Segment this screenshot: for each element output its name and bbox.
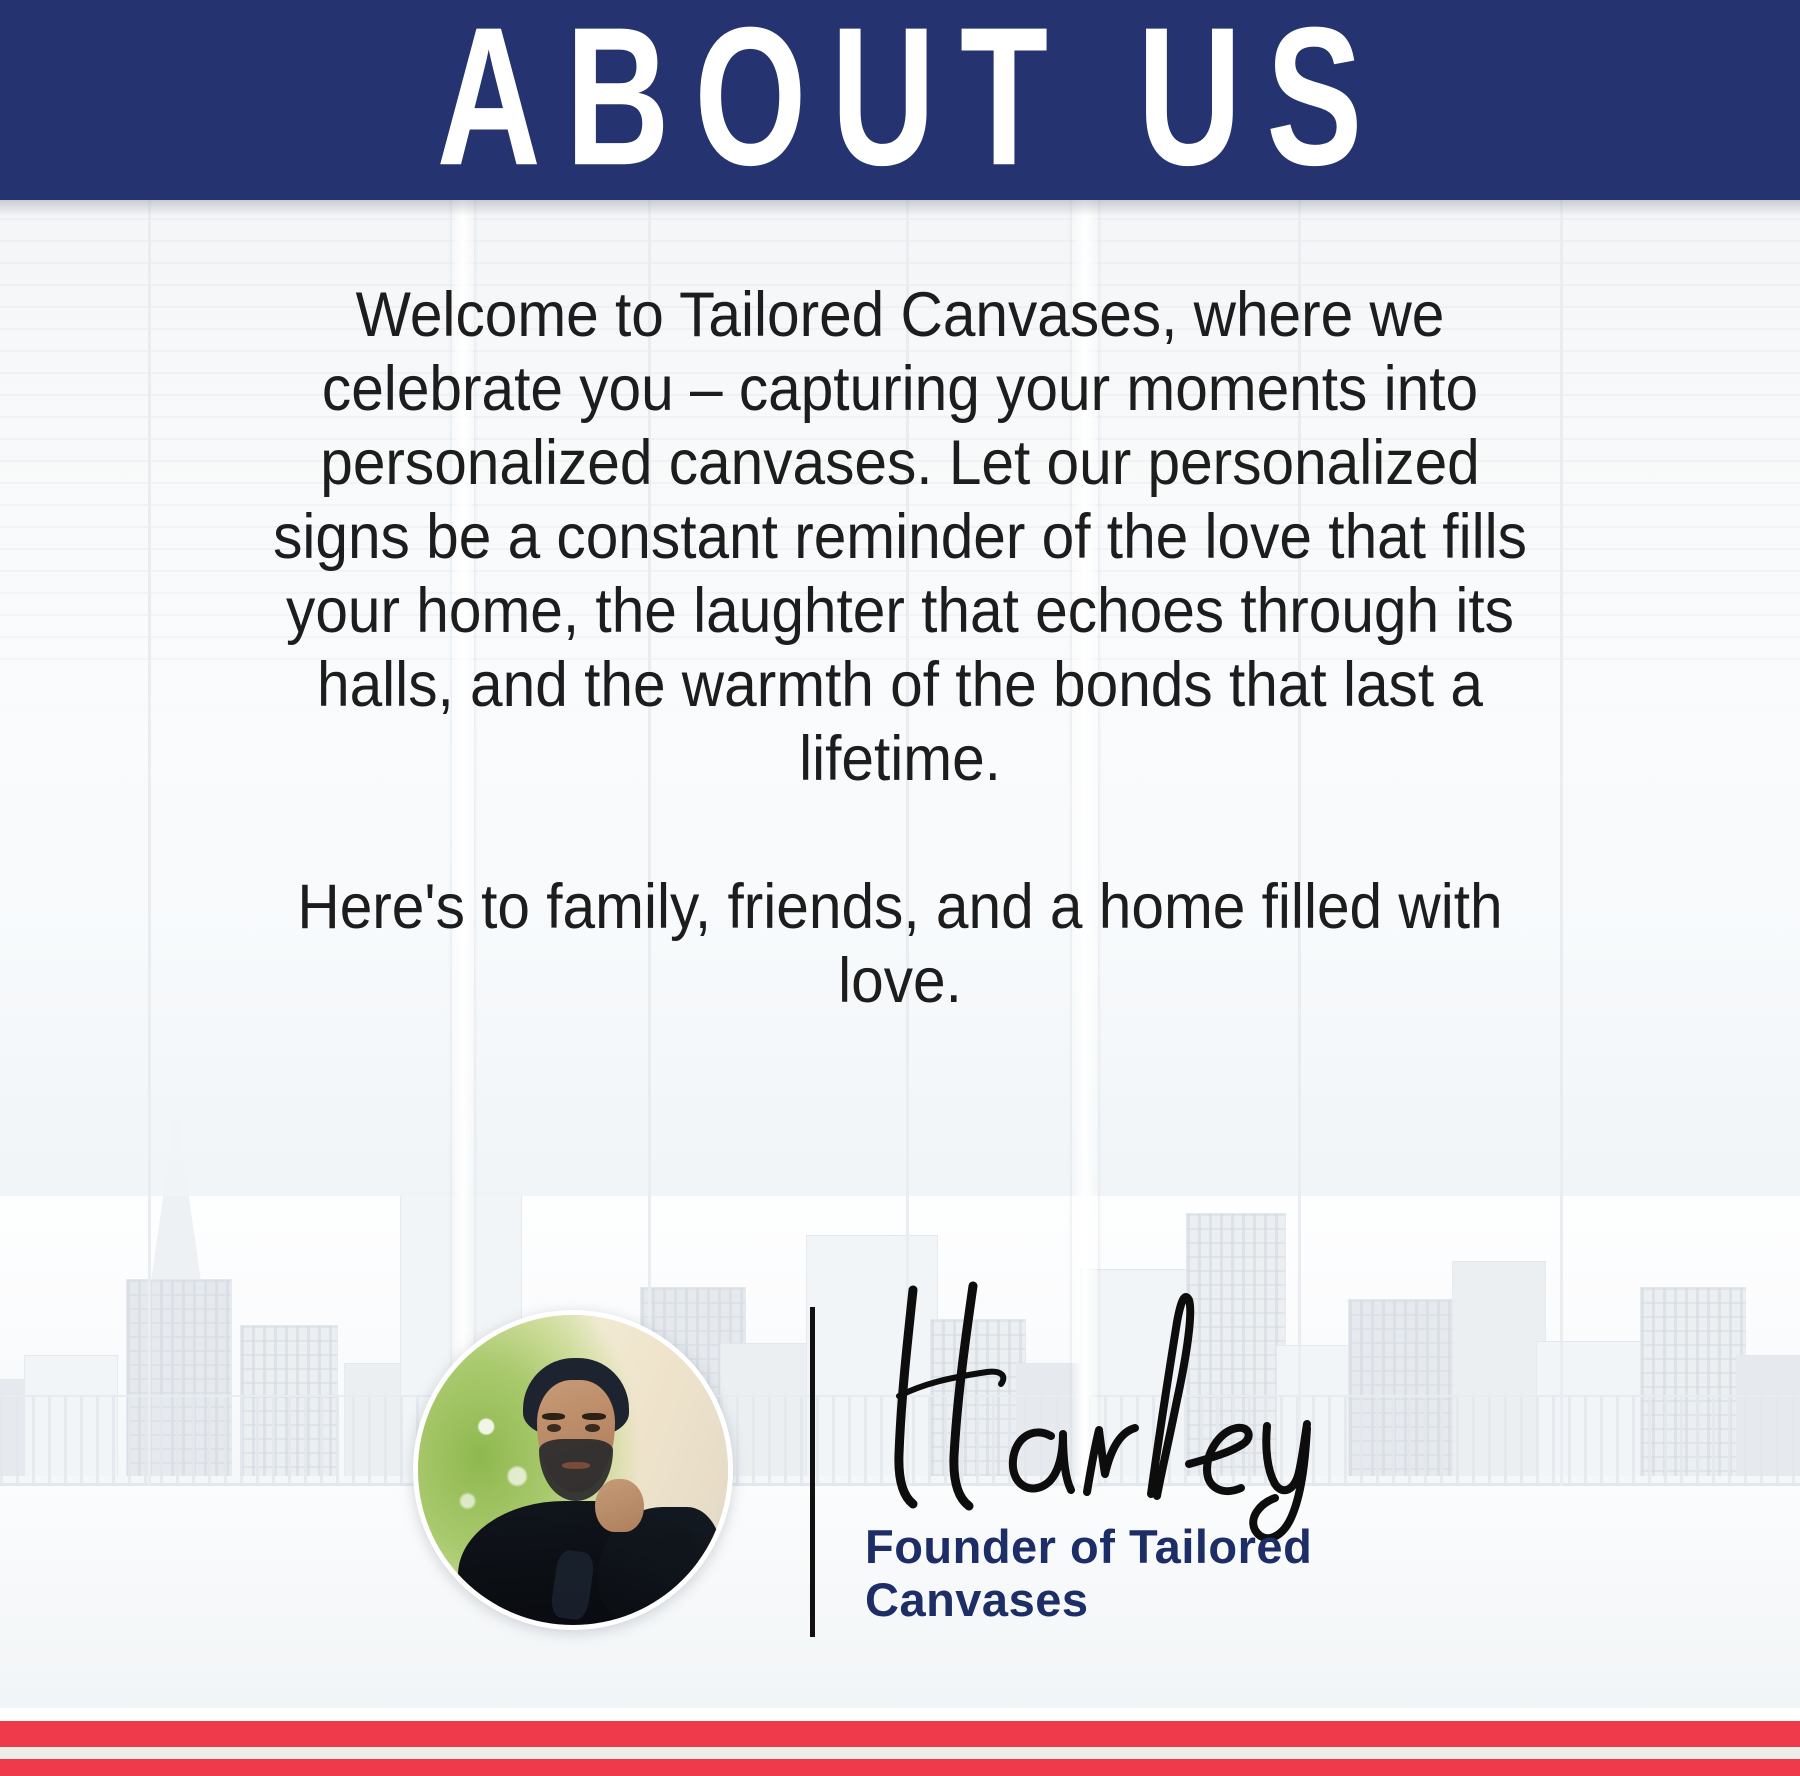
about-us-poster: ABOUT US Welcome to Tailored Canvases, w… <box>0 0 1800 1776</box>
founder-role-line-1: Founder of Tailored <box>865 1520 1485 1573</box>
about-copy: Welcome to Tailored Canvases, where we c… <box>272 278 1528 1018</box>
handwritten-signature <box>855 1268 1395 1528</box>
avatar <box>413 1310 733 1630</box>
about-paragraph-1: Welcome to Tailored Canvases, where we c… <box>272 278 1528 796</box>
page-title: ABOUT US <box>412 0 1387 196</box>
founder-role: Founder of Tailored Canvases <box>865 1520 1485 1626</box>
header-bar: ABOUT US <box>0 0 1800 200</box>
header-shadow <box>0 200 1800 216</box>
signature-divider <box>810 1307 815 1637</box>
founder-role-line-2: Canvases <box>865 1573 1485 1626</box>
about-paragraph-2: Here's to family, friends, and a home fi… <box>272 870 1528 1018</box>
footer-bar-gap <box>0 1747 1800 1759</box>
footer-bar-bottom <box>0 1759 1800 1776</box>
footer-bar-top <box>0 1721 1800 1747</box>
